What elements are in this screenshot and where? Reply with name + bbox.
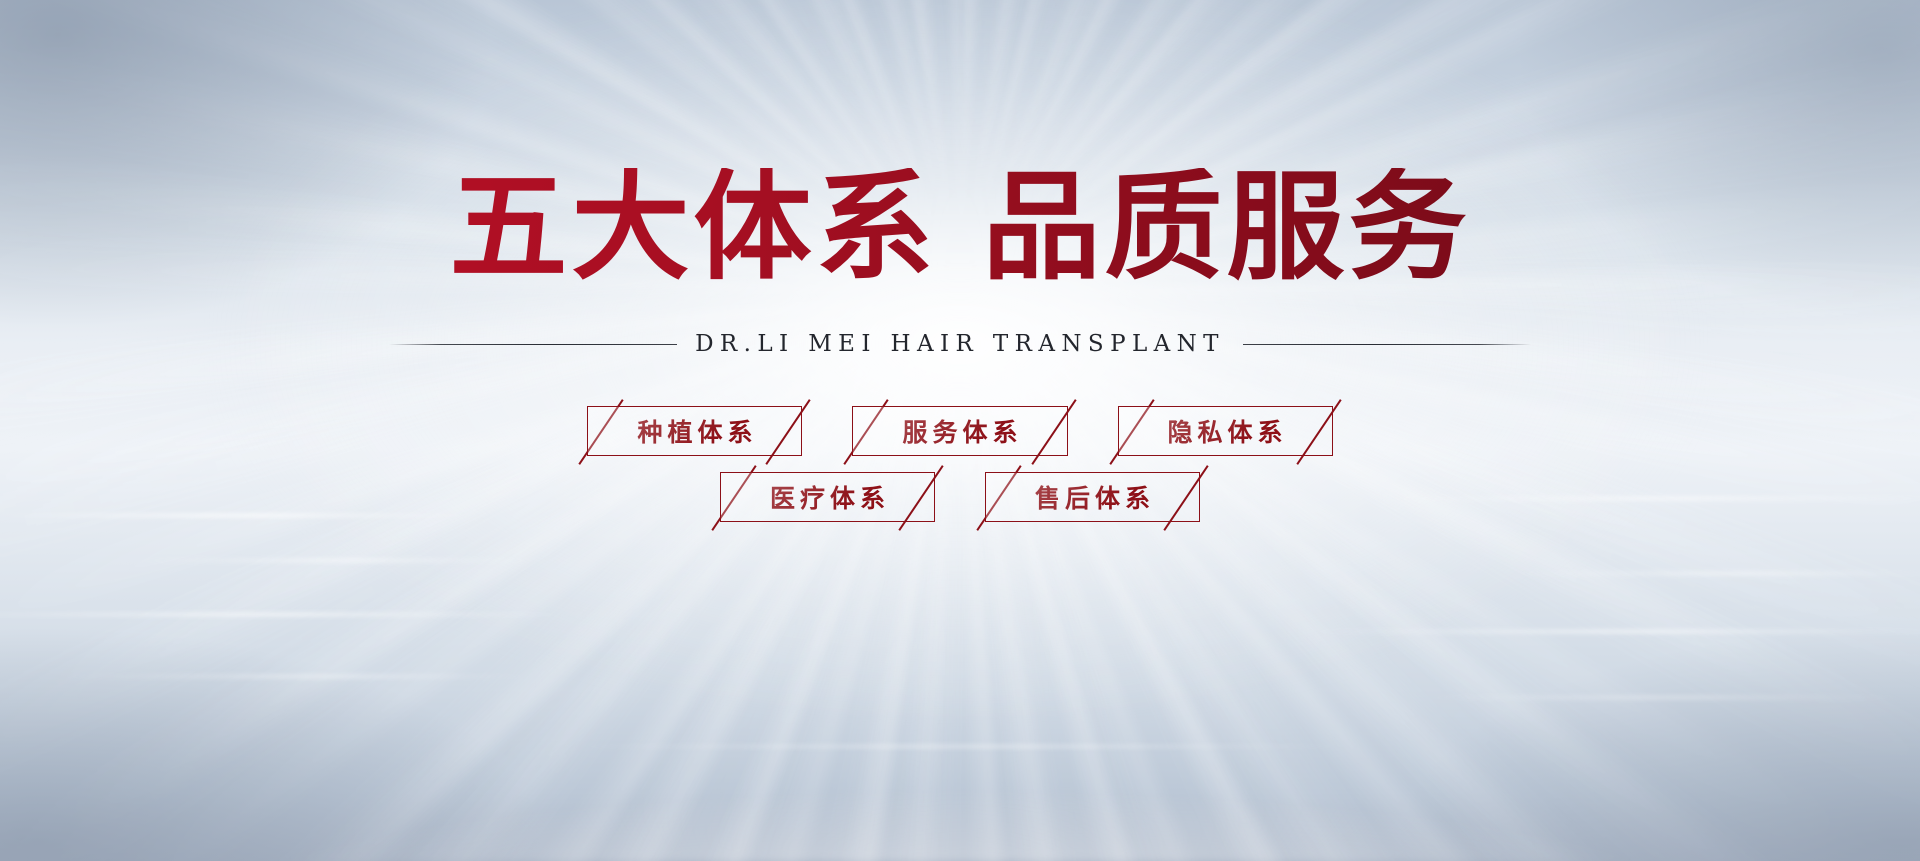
slash-decoration-right-icon xyxy=(898,465,943,531)
page-title: 五大体系 品质服务 xyxy=(0,168,1920,286)
system-tag-medical[interactable]: 医疗体系 xyxy=(720,472,935,522)
system-tag-row-2: 医疗体系 售后体系 xyxy=(720,472,1200,522)
system-tag-label: 售后体系 xyxy=(1030,479,1155,515)
slash-decoration-left-icon xyxy=(579,399,624,465)
system-tag-planting[interactable]: 种植体系 xyxy=(587,406,802,456)
subtitle-text: DR.LI MEI HAIR TRANSPLANT xyxy=(695,331,1225,357)
slash-decoration-left-icon xyxy=(1109,399,1154,465)
slash-decoration-right-icon xyxy=(1296,399,1341,465)
divider-line-right xyxy=(1243,344,1531,345)
subtitle-row: DR.LI MEI HAIR TRANSPLANT xyxy=(0,331,1920,357)
system-tag-service[interactable]: 服务体系 xyxy=(852,406,1067,456)
system-tag-privacy[interactable]: 隐私体系 xyxy=(1118,406,1333,456)
divider-line-left xyxy=(389,344,677,345)
slash-decoration-right-icon xyxy=(1031,399,1076,465)
system-tag-list: 种植体系 服务体系 隐私体系 医疗体系 xyxy=(0,406,1920,522)
slash-decoration-left-icon xyxy=(711,465,756,531)
system-tag-label: 服务体系 xyxy=(897,413,1022,449)
banner-content: 五大体系 品质服务 DR.LI MEI HAIR TRANSPLANT 种植体系… xyxy=(0,0,1920,861)
slash-decoration-left-icon xyxy=(844,399,889,465)
slash-decoration-left-icon xyxy=(976,465,1021,531)
system-tag-aftersales[interactable]: 售后体系 xyxy=(985,472,1200,522)
slash-decoration-right-icon xyxy=(766,399,811,465)
system-tag-label: 医疗体系 xyxy=(765,479,890,515)
slash-decoration-right-icon xyxy=(1163,465,1208,531)
hero-banner: 五大体系 品质服务 DR.LI MEI HAIR TRANSPLANT 种植体系… xyxy=(0,0,1920,861)
system-tag-row-1: 种植体系 服务体系 隐私体系 xyxy=(587,406,1332,456)
system-tag-label: 隐私体系 xyxy=(1163,413,1288,449)
system-tag-label: 种植体系 xyxy=(632,413,757,449)
